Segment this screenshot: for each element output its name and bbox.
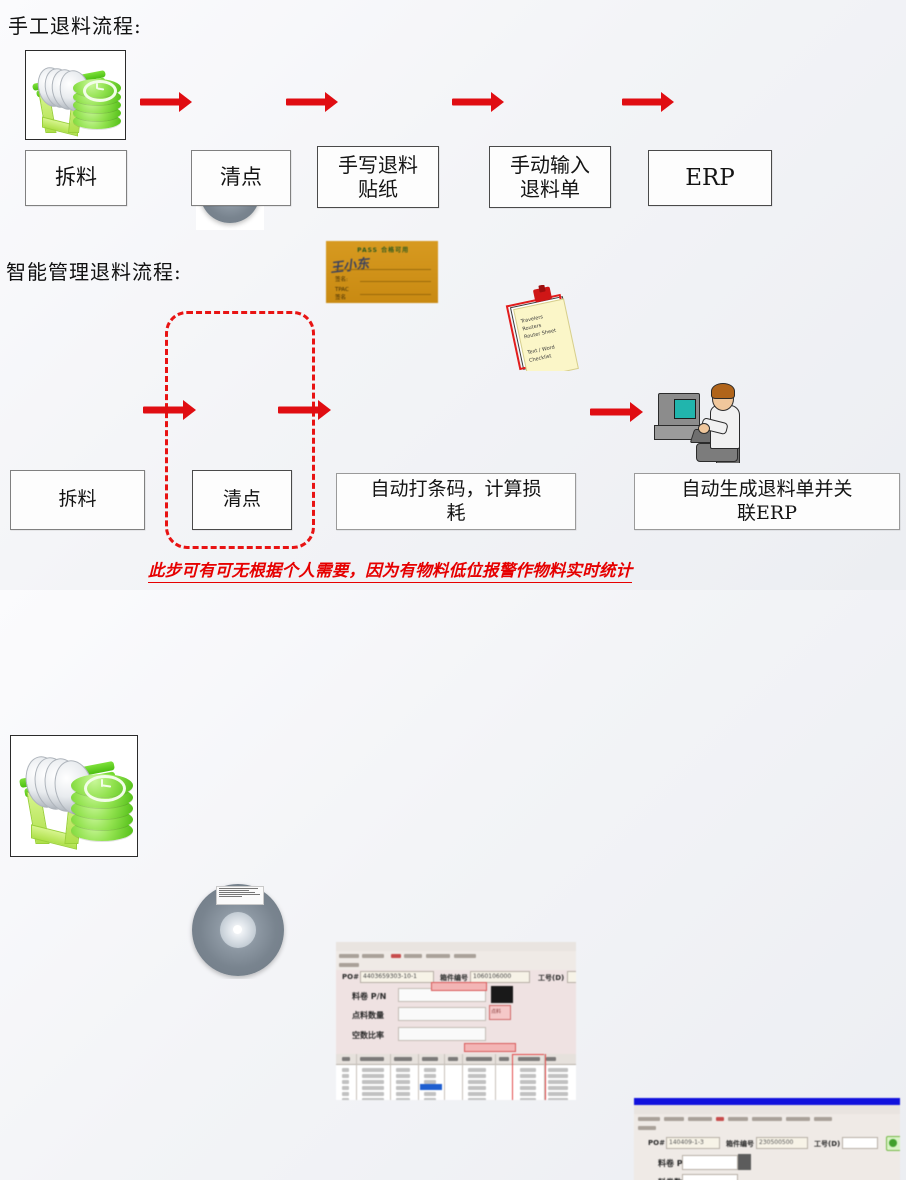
po-value: 4403659303-10-1 (363, 973, 417, 980)
red-annotation-note: 此步可有可无根据个人需要，因为有物料低位报警作物料实时统计 (148, 557, 632, 583)
part-label: 箱件编号 (726, 1139, 754, 1149)
part-value: 230500500 (759, 1139, 793, 1146)
caption-label-line-2: 耗 (446, 502, 465, 525)
caption-label: 拆料 (58, 488, 96, 511)
caption-box-step-1: 拆料 (25, 150, 127, 206)
caption-label-line-2: 退料单 (520, 177, 580, 201)
caption-box-step-4: 手动输入 退料单 (489, 146, 611, 208)
caption-box-step-5: ERP (648, 150, 772, 206)
caption-label-line-1: 自动打条码，计算损 (370, 478, 541, 501)
caption-label-line-2: 贴纸 (358, 177, 398, 201)
caption-box-step-2: 清点 (191, 150, 291, 206)
caption-label-line-1: 手动输入 (510, 153, 590, 177)
person-at-computer-icon (650, 371, 770, 463)
sticker-field-1: 签名: (335, 275, 348, 283)
caption-box-smart-step-3: 自动打条码，计算损 耗 (336, 473, 576, 530)
section-title-smart-flow: 智能管理退料流程: (6, 256, 182, 285)
worker-label: 工号(D) (814, 1139, 840, 1149)
caption-label: 拆料 (55, 165, 97, 191)
po-label: PO# (342, 973, 359, 981)
pass-sticker-icon: PASS 合格可用 王小东 签名: TPAC 签名 (326, 241, 438, 303)
po-label: PO# (648, 1139, 665, 1147)
reel-stack-icon (10, 735, 138, 857)
erp-app-screenshot: PO# 140409-1-3 箱件编号 230500500 工号(D) 料卷 P… (634, 1098, 900, 1180)
caption-label: 清点 (220, 165, 262, 191)
field-label-2: 空数比率 (352, 1030, 384, 1041)
caption-label: 清点 (223, 488, 261, 511)
part-value: 1060106000 (473, 973, 511, 980)
reel-stack-icon (25, 50, 126, 140)
caption-label-line-1: 手写退料 (338, 153, 418, 177)
caption-box-smart-step-2: 清点 (192, 470, 292, 530)
po-value: 140409-1-3 (669, 1139, 704, 1146)
field-label-1: 点料数量 (352, 1010, 384, 1021)
count-button[interactable]: 点料 (491, 1008, 501, 1015)
clipboard-traveler-icon: Travelers Routers Router Sheet Text / Wo… (500, 285, 596, 371)
caption-label: ERP (685, 164, 735, 192)
wafer-disc-icon (186, 879, 296, 979)
field-label-0: 料卷 P/N (352, 991, 386, 1002)
section-title-manual-flow: 手工退料流程: (8, 10, 142, 39)
sticker-handwriting: 王小东 (329, 252, 370, 276)
barcode-app-screenshot: PO# 4403659303-10-1 箱件编号 1060106000 工号(D… (336, 942, 576, 1100)
caption-box-smart-step-1: 拆料 (10, 470, 145, 530)
caption-label-line-2: 联ERP (737, 502, 797, 525)
caption-box-smart-step-4: 自动生成退料单并关 联ERP (634, 473, 900, 530)
sticker-field-3: 签名 (335, 293, 346, 301)
worker-label: 工号(D) (538, 973, 564, 983)
caption-box-step-3: 手写退料 贴纸 (317, 146, 439, 208)
sticker-header: PASS 合格可用 (333, 245, 434, 254)
caption-label-line-1: 自动生成退料单并关 (681, 478, 852, 501)
sticker-field-2: TPAC (335, 287, 349, 293)
